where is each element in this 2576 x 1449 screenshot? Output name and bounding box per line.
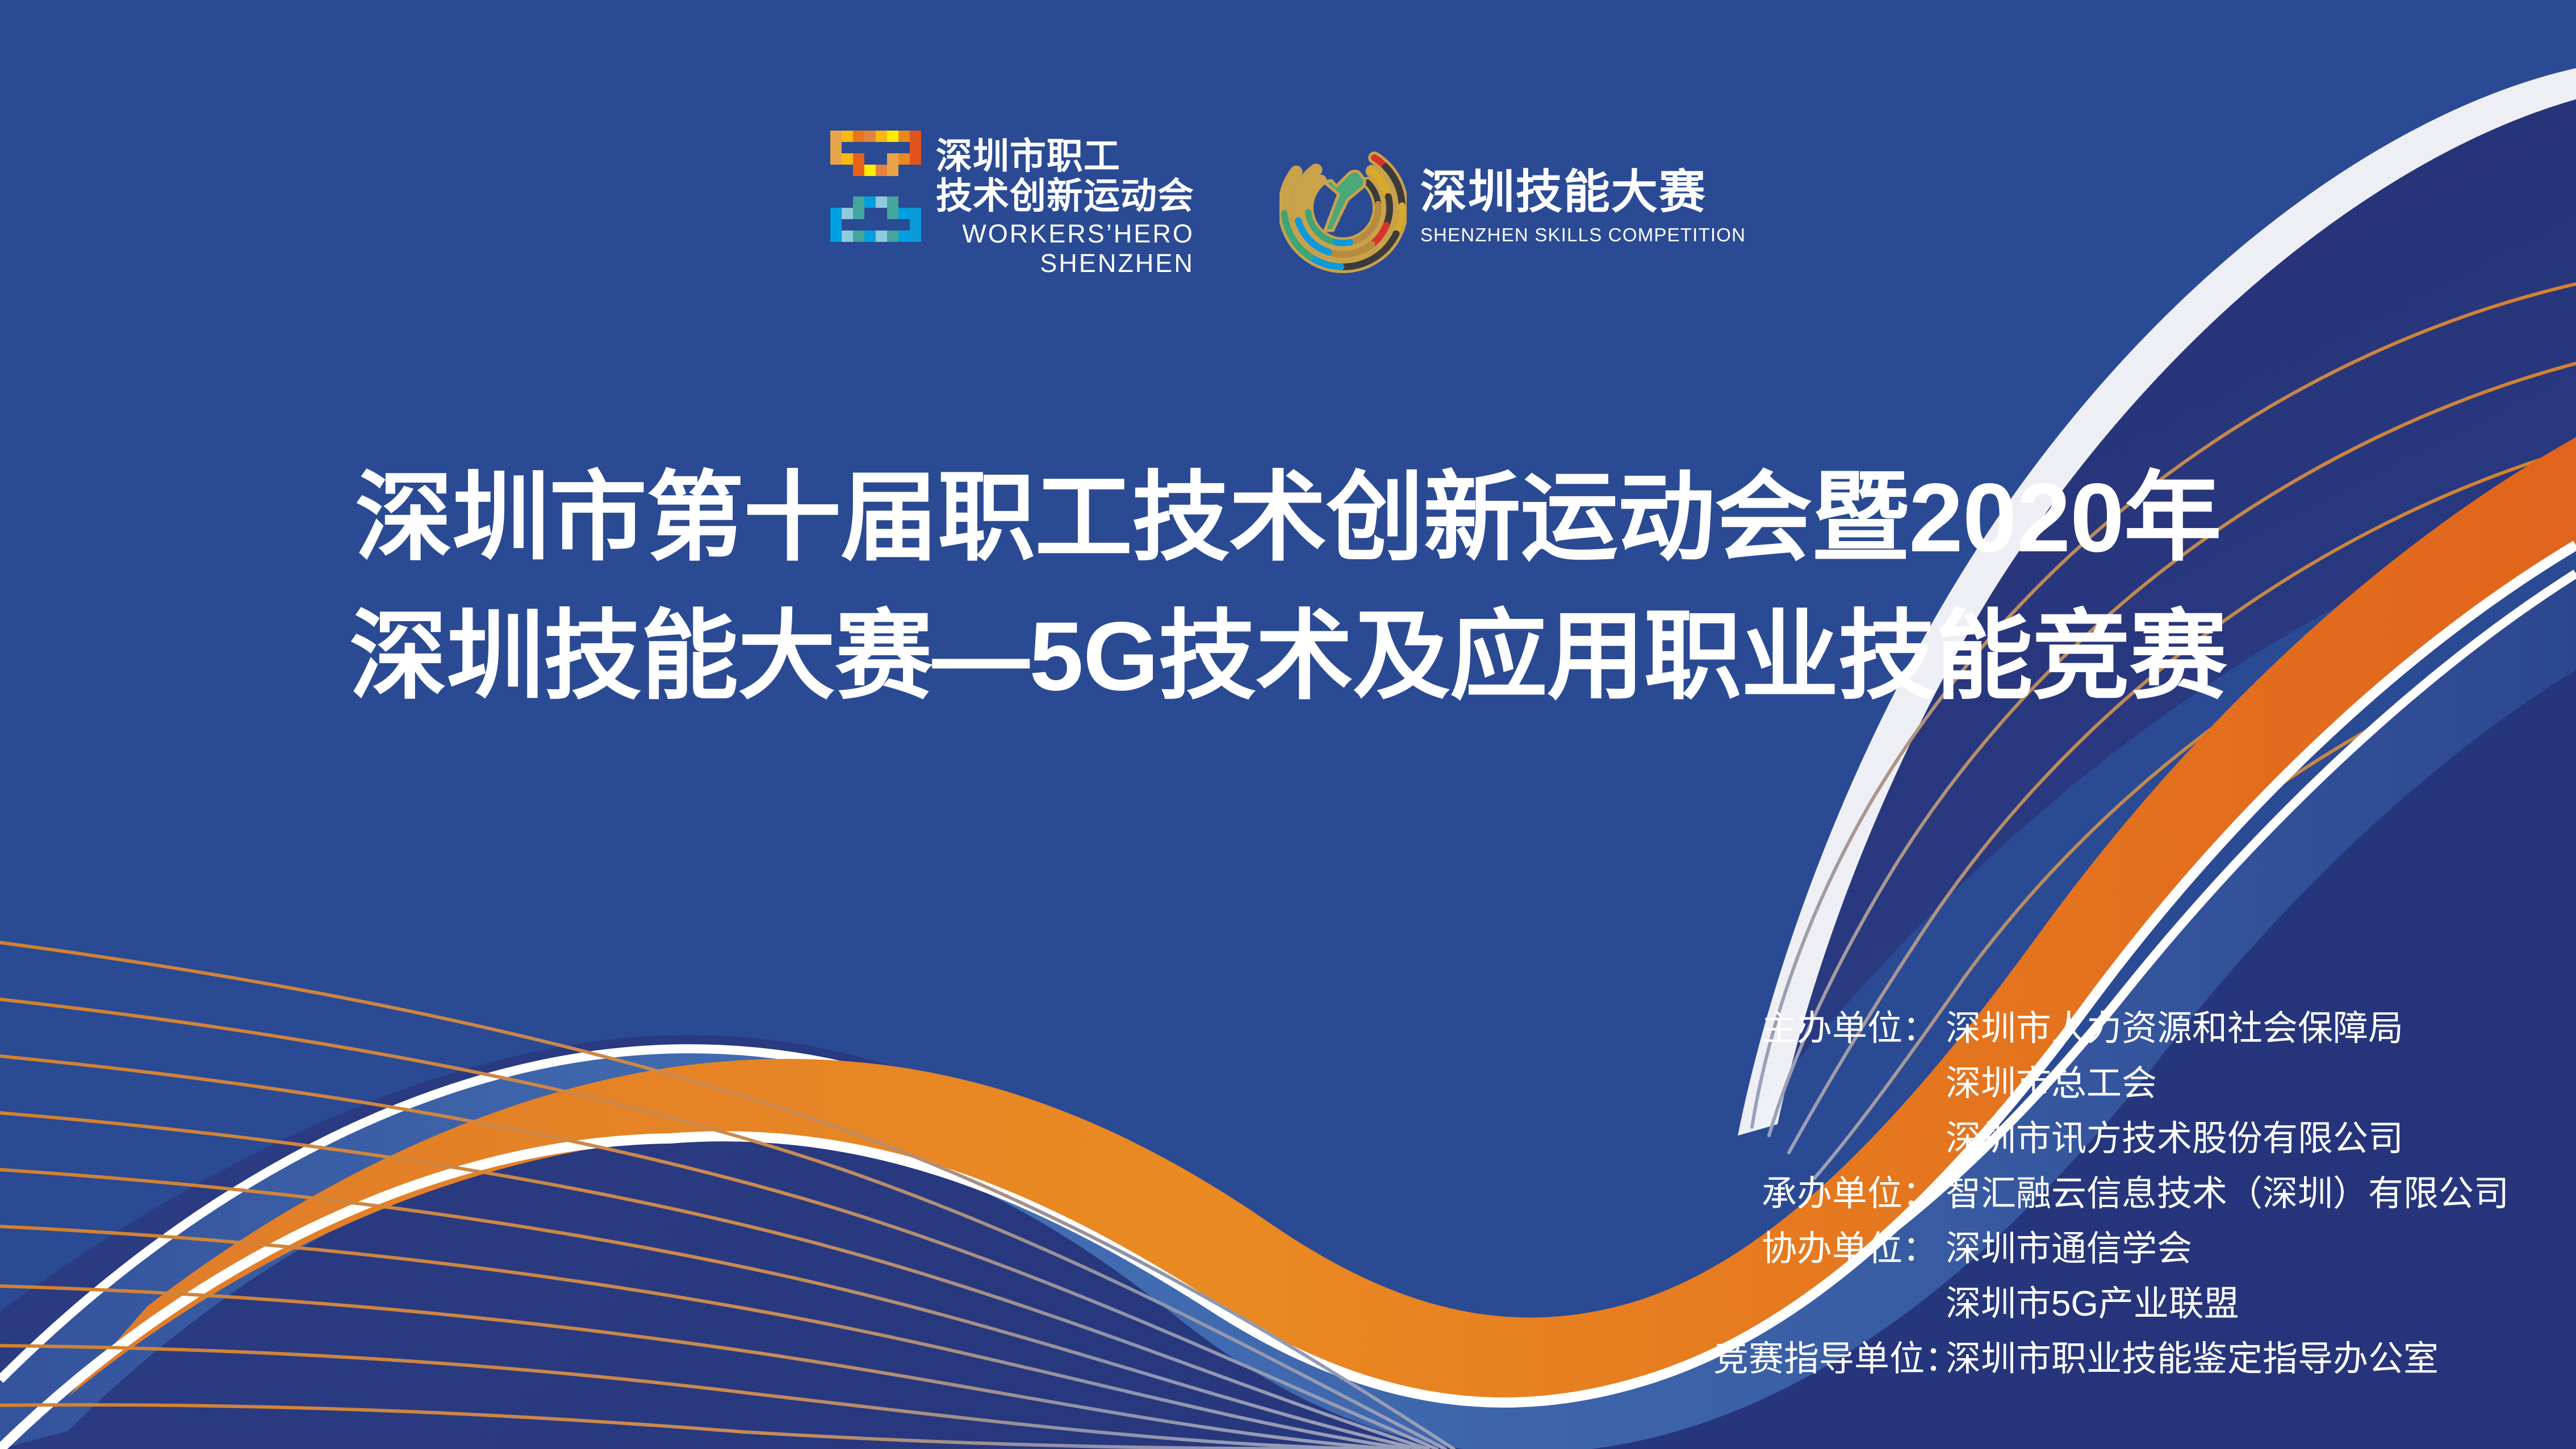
logo-skills-competition: 深圳技能大赛 SHENZHEN SKILLS COMPETITION — [1279, 131, 1746, 285]
organizer-value: 深圳市讯方技术股份有限公司 — [1938, 1109, 2403, 1161]
organizer-list: 主办单位： 深圳市人力资源和社会保障局 深圳市总工会 深圳市讯方技术股份有限公司… — [1713, 999, 2509, 1385]
skills-competition-cn: 深圳技能大赛 — [1420, 169, 1746, 216]
organizer-value: 深圳市总工会 — [1938, 1054, 2157, 1105]
organizer-value: 智汇融云信息技术（深圳）有限公司 — [1938, 1165, 2509, 1216]
organizer-row: 协办单位： 深圳市通信学会 — [1713, 1220, 2509, 1275]
workers-hero-cn-line2: 技术创新运动会 — [936, 177, 1194, 216]
organizer-row: 深圳市总工会 — [1713, 1054, 2509, 1109]
poster-canvas: 深圳市职工 技术创新运动会 WORKERS’HERO SHENZHEN — [0, 0, 2576, 1449]
logo-workers-hero: 深圳市职工 技术创新运动会 WORKERS’HERO SHENZHEN — [830, 131, 1194, 285]
workers-hero-text: 深圳市职工 技术创新运动会 WORKERS’HERO SHENZHEN — [936, 137, 1194, 278]
workers-hero-pixel-mark-icon — [830, 131, 921, 285]
skills-competition-ring-icon — [1279, 131, 1407, 285]
organizer-row: 承办单位： 智汇融云信息技术（深圳）有限公司 — [1713, 1165, 2509, 1220]
organizer-label: 竞赛指导单位： — [1713, 1330, 1938, 1381]
organizer-row: 竞赛指导单位： 深圳市职业技能鉴定指导办公室 — [1713, 1330, 2509, 1385]
organizer-label: 协办单位： — [1713, 1220, 1938, 1271]
organizer-row: 主办单位： 深圳市人力资源和社会保障局 — [1713, 999, 2509, 1054]
workers-hero-en-line2: SHENZHEN — [936, 249, 1194, 278]
organizer-label: 主办单位： — [1713, 999, 1938, 1050]
organizer-value: 深圳市职业技能鉴定指导办公室 — [1938, 1330, 2439, 1381]
organizer-value: 深圳市人力资源和社会保障局 — [1938, 999, 2403, 1050]
organizer-value: 深圳市5G产业联盟 — [1938, 1275, 2239, 1326]
workers-hero-en-line1: WORKERS’HERO — [936, 219, 1194, 249]
organizer-value: 深圳市通信学会 — [1938, 1220, 2192, 1271]
workers-hero-cn-line1: 深圳市职工 — [936, 137, 1194, 176]
organizer-label: 承办单位： — [1713, 1165, 1938, 1216]
skills-competition-text: 深圳技能大赛 SHENZHEN SKILLS COMPETITION — [1420, 169, 1746, 246]
organizer-row: 深圳市讯方技术股份有限公司 — [1713, 1109, 2509, 1165]
organizer-row: 深圳市5G产业联盟 — [1713, 1275, 2509, 1330]
skills-competition-en: SHENZHEN SKILLS COMPETITION — [1420, 224, 1746, 246]
logo-row: 深圳市职工 技术创新运动会 WORKERS’HERO SHENZHEN — [0, 131, 2576, 285]
